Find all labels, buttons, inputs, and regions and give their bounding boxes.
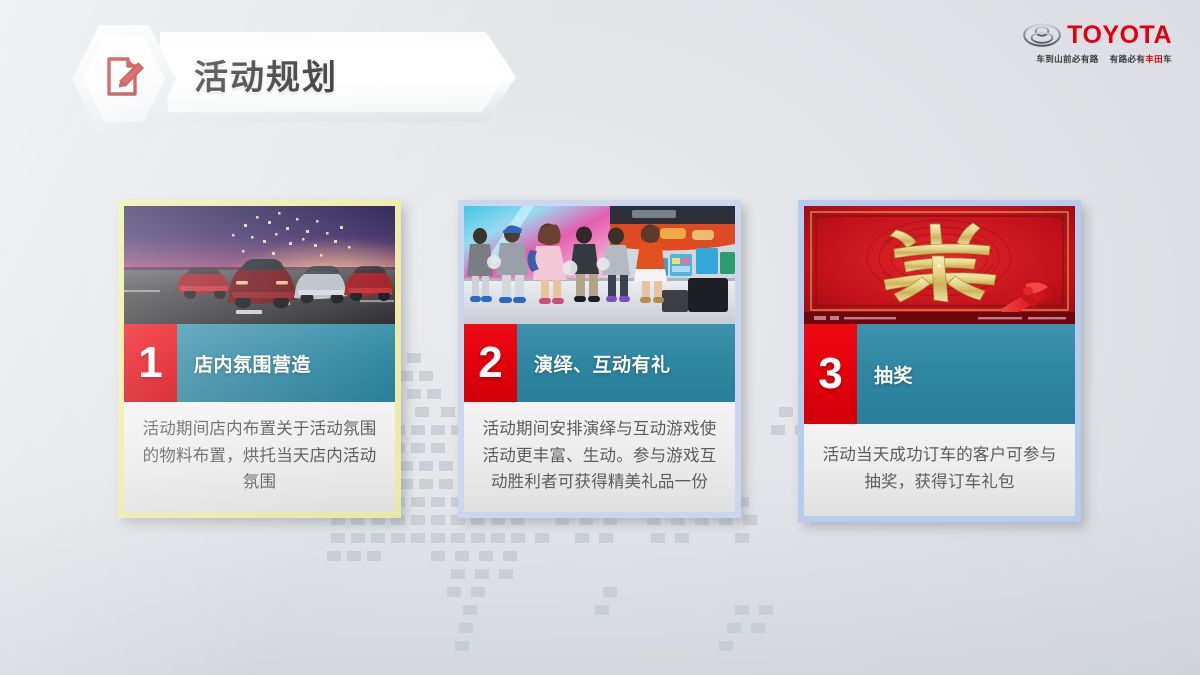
card-3-header: 3 抽奖 — [804, 324, 1075, 424]
activity-card-2[interactable]: 2 演绎、互动有礼 活动期间安排演绎与互动游戏使活动更丰富、生动。参与游戏互动胜… — [458, 200, 741, 518]
card-2-body: 活动期间安排演绎与互动游戏使活动更丰富、生动。参与游戏互动胜利者可获得精美礼品一… — [464, 402, 735, 512]
document-edit-icon — [102, 54, 148, 100]
card-1-body: 活动期间店内布置关于活动氛围的物料布置，烘托当天店内活动氛围 — [124, 402, 395, 512]
card-3-body-text: 活动当天成功订车的客户可参与抽奖，获得订车礼包 — [817, 442, 1062, 495]
card-3-title: 抽奖 — [857, 324, 1075, 424]
prize-lottery-banner-photo — [804, 206, 1075, 324]
card-3-body: 活动当天成功订车的客户可参与抽奖，获得订车礼包 — [804, 424, 1075, 516]
tagline-part-1: 车到山前必有路 — [1036, 54, 1098, 64]
card-1-number: 1 — [124, 324, 177, 402]
toyota-tagline: 车到山前必有路 有路必有丰田车 — [997, 53, 1172, 65]
card-2-body-text: 活动期间安排演绎与互动游戏使活动更丰富、生动。参与游戏互动胜利者可获得精美礼品一… — [477, 416, 722, 496]
activity-card-3[interactable]: 3 抽奖 活动当天成功订车的客户可参与抽奖，获得订车礼包 — [798, 200, 1081, 522]
card-1-header: 1 店内氛围营造 — [124, 324, 395, 402]
card-2-number: 2 — [464, 324, 517, 402]
card-2-title: 演绎、互动有礼 — [517, 324, 735, 402]
tagline-highlight: 丰田 — [1145, 54, 1163, 64]
slide-title-banner: 活动规划 — [72, 25, 520, 133]
card-2-header: 2 演绎、互动有礼 — [464, 324, 735, 402]
cars-on-road-sunset-photo — [124, 206, 395, 324]
card-3-number: 3 — [804, 324, 857, 424]
interactive-game-event-photo — [464, 206, 735, 324]
activity-card-1[interactable]: 1 店内氛围营造 活动期间店内布置关于活动氛围的物料布置，烘托当天店内活动氛围 — [118, 200, 401, 518]
card-1-body-text: 活动期间店内布置关于活动氛围的物料布置，烘托当天店内活动氛围 — [137, 416, 382, 496]
toyota-emblem-icon — [1023, 22, 1061, 48]
toyota-logo-row: TOYOTA — [997, 20, 1172, 50]
card-1-title: 店内氛围营造 — [177, 324, 395, 402]
tagline-part-2: 有路必有 — [1110, 54, 1146, 64]
toyota-brand-logo: TOYOTA 车到山前必有路 有路必有丰田车 — [997, 20, 1172, 68]
tagline-part-3: 车 — [1163, 54, 1172, 64]
toyota-wordmark: TOYOTA — [1067, 22, 1172, 48]
page-title: 活动规划 — [194, 55, 338, 101]
slide-canvas: TOYOTA 车到山前必有路 有路必有丰田车 活动规划 — [0, 0, 1200, 675]
